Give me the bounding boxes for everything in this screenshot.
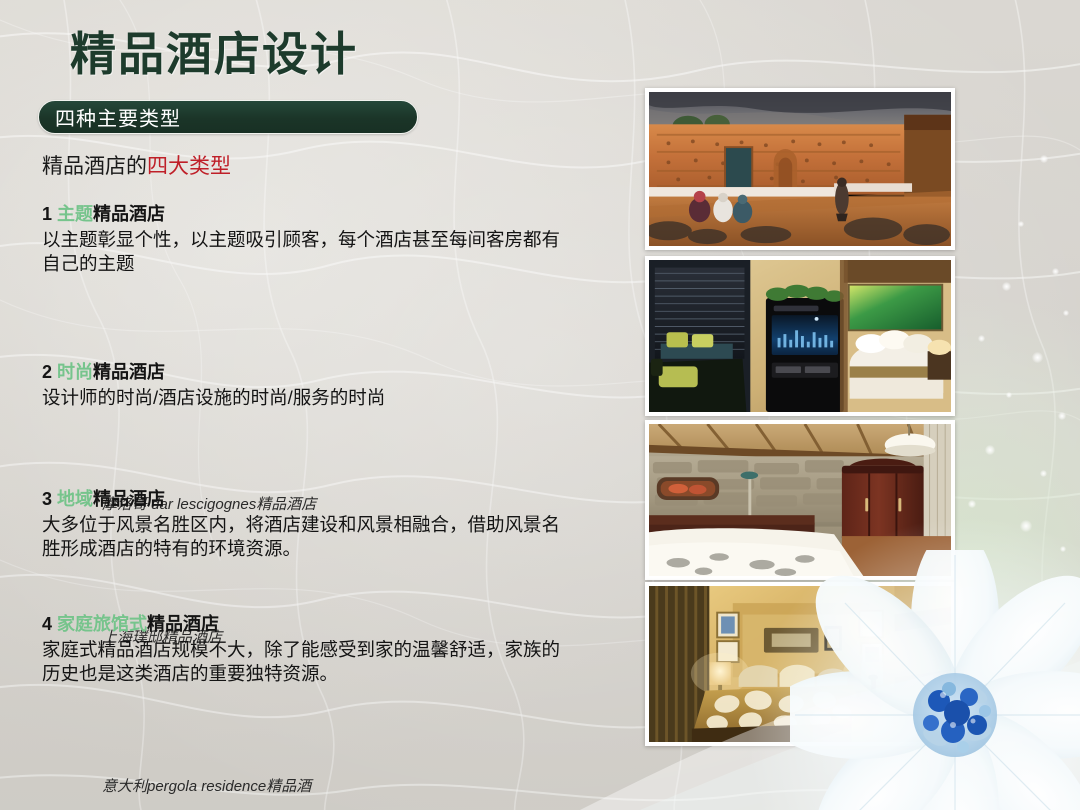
photo-thumbnail-2[interactable]: [645, 256, 955, 416]
item-caption: 意大利pergola residence精品酒: [84, 775, 311, 796]
photo-thumbnail-4[interactable]: [645, 582, 955, 746]
item-body: 设计师的时尚/酒店设施的时尚/服务的时尚: [42, 386, 562, 410]
item-keyword: 家庭旅馆式: [57, 614, 147, 634]
item-heading: 4 家庭旅馆式精品酒店: [42, 610, 562, 636]
item-heading-suffix: 精品酒店: [93, 362, 165, 382]
item-keyword: 主题: [57, 204, 93, 224]
item-number: 3: [42, 489, 52, 509]
item-heading-suffix: 精品酒店: [93, 489, 165, 509]
photo-thumbnail-1[interactable]: [645, 88, 955, 250]
photo-thumbnail-3[interactable]: [645, 420, 955, 580]
section-banner-label: 四种主要类型: [55, 103, 181, 132]
item-body: 家庭式精品酒店规模不大，除了能感受到家的温馨舒适，家族的历史也是这类酒店的重要独…: [42, 638, 562, 685]
item-number: 4: [42, 614, 52, 634]
item-heading: 3 地域精品酒店: [42, 485, 562, 511]
item-number: 2: [42, 362, 52, 382]
section-banner: 四种主要类型: [38, 100, 418, 134]
lead-line: 精品酒店的四大类型: [42, 150, 231, 180]
item-heading-suffix: 精品酒店: [147, 614, 219, 634]
slide-canvas: 精品酒店设计 四种主要类型 精品酒店的四大类型 1 主题精品酒店 以主题彰显个性…: [0, 0, 1080, 810]
item-body: 以主题彰显个性，以主题吸引顾客，每个酒店甚至每间客房都有自己的主题: [42, 228, 562, 275]
item-keyword: 时尚: [57, 362, 93, 382]
list-item: 2 时尚精品酒店 设计师的时尚/酒店设施的时尚/服务的时尚: [42, 358, 562, 410]
item-heading-suffix: 精品酒店: [93, 204, 165, 224]
list-item: 3 地域精品酒店 大多位于风景名胜区内，将酒店建设和风景相融合，借助风景名胜形成…: [42, 485, 562, 560]
item-number: 1: [42, 204, 52, 224]
item-body: 大多位于风景名胜区内，将酒店建设和风景相融合，借助风景名胜形成酒店的特有的环境资…: [42, 513, 562, 560]
list-item: 4 家庭旅馆式精品酒店 家庭式精品酒店规模不大，除了能感受到家的温馨舒适，家族的…: [42, 610, 562, 685]
lead-highlight: 四大类型: [147, 155, 231, 178]
lead-prefix: 精品酒店的: [42, 155, 147, 178]
item-heading: 1 主题精品酒店: [42, 200, 562, 226]
item-heading: 2 时尚精品酒店: [42, 358, 562, 384]
item-keyword: 地域: [57, 489, 93, 509]
list-item: 1 主题精品酒店 以主题彰显个性，以主题吸引顾客，每个酒店甚至每间客房都有自己的…: [42, 200, 562, 275]
page-title: 精品酒店设计: [70, 18, 358, 84]
